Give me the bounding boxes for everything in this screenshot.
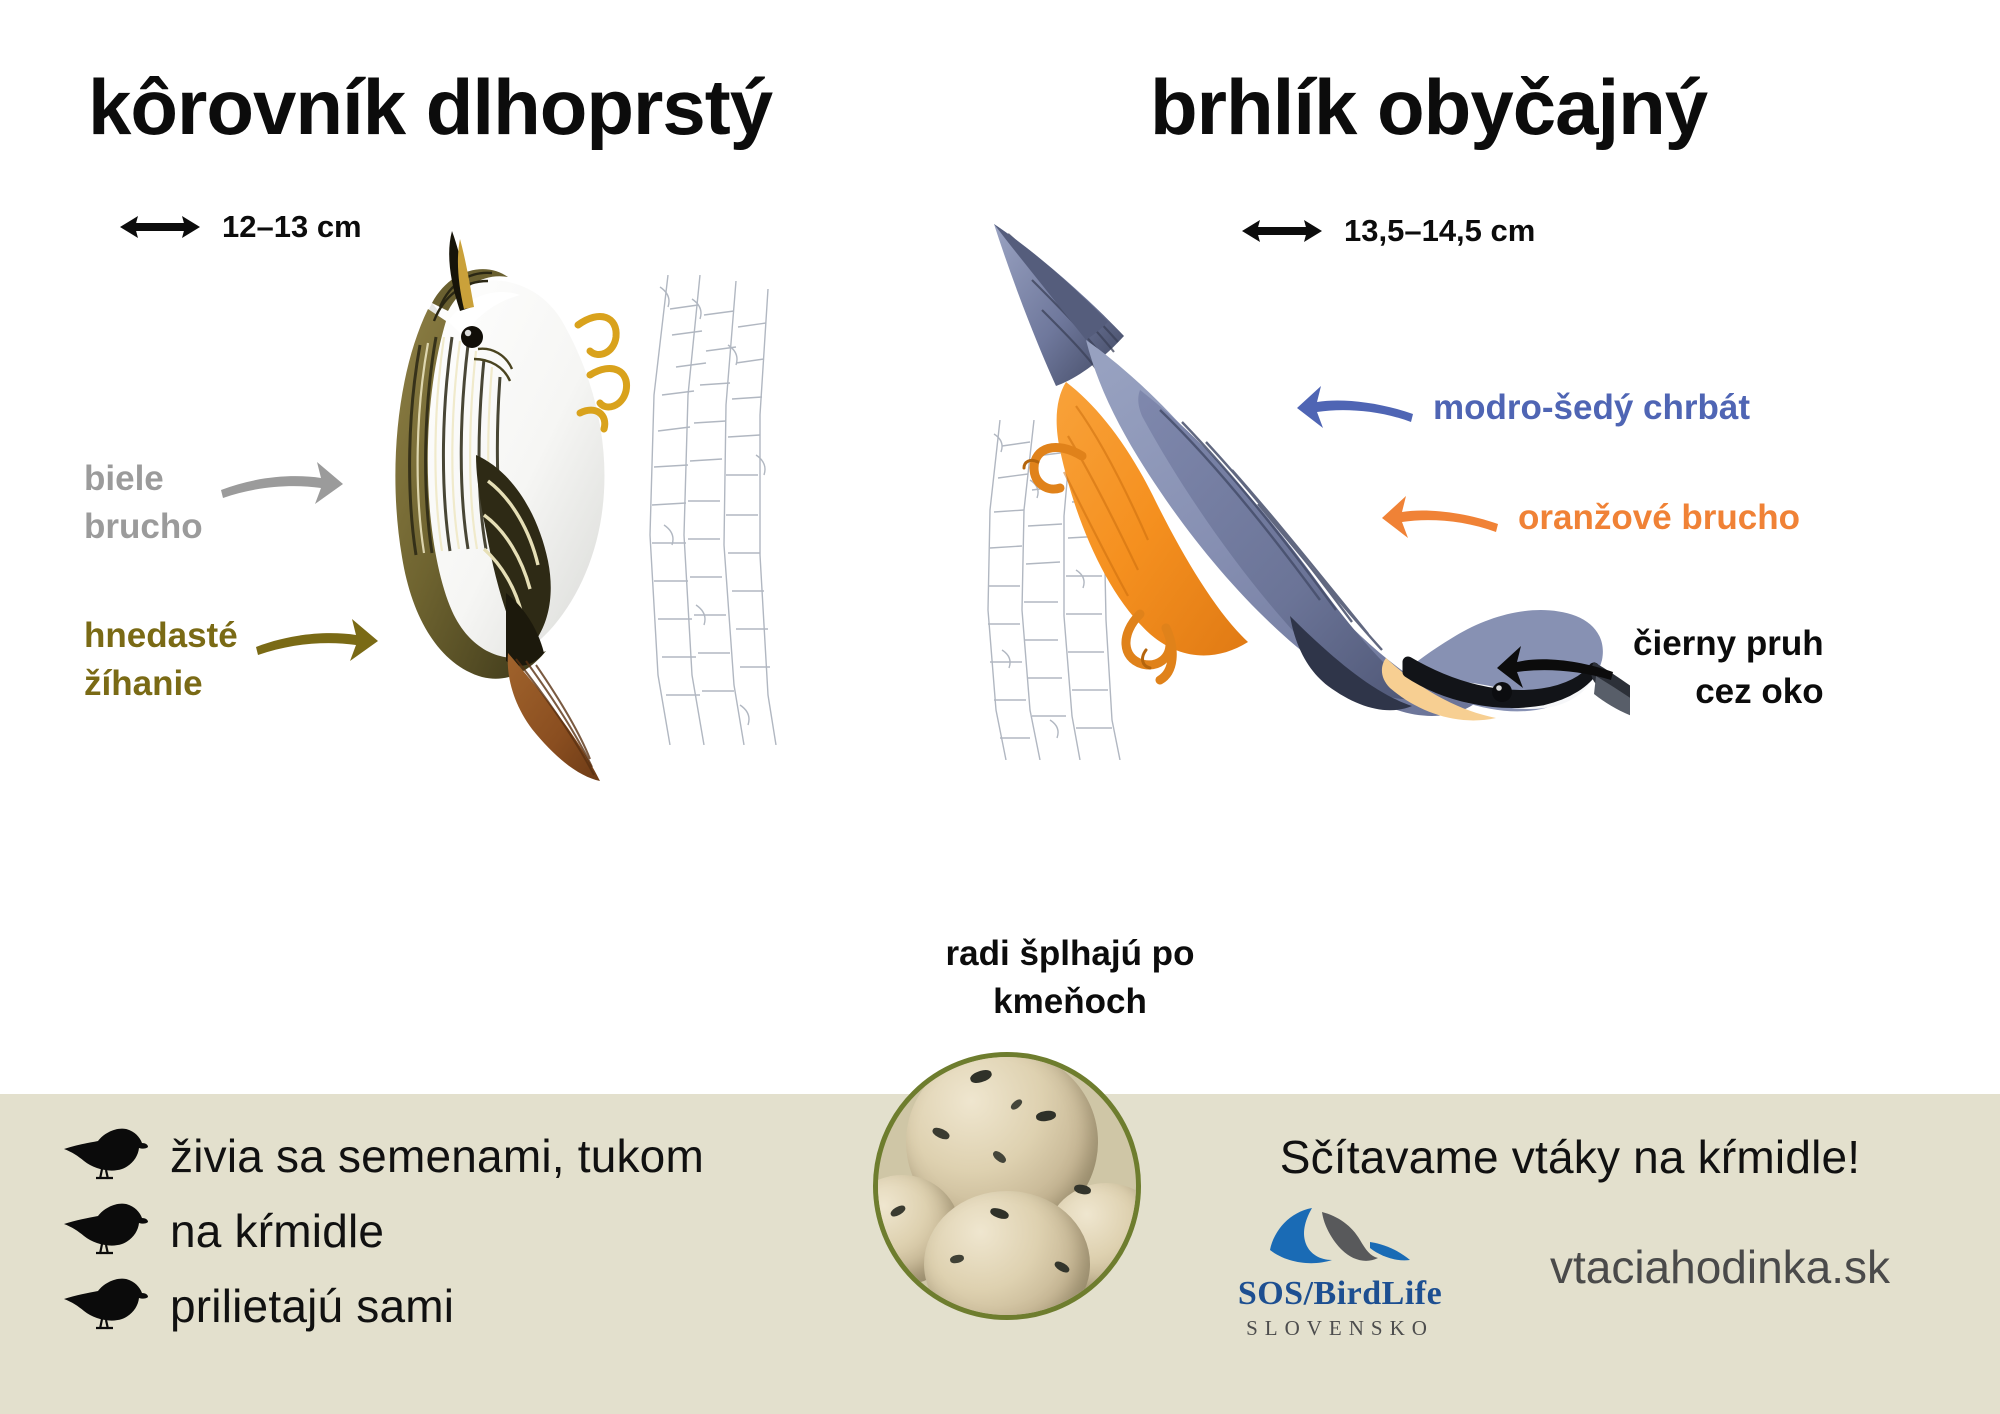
annotation-brown-streaking: hnedasté žíhanie: [84, 612, 380, 709]
list-item-label: živia sa semenami, tukom: [170, 1129, 704, 1183]
arrow-left-curved-icon: [1295, 378, 1417, 439]
annotation-orange-belly-text: oranžové brucho: [1518, 494, 1800, 542]
annotation-black-eyestripe-line2: cez oko: [1633, 668, 1824, 716]
list-item: živia sa semenami, tukom: [62, 1125, 704, 1186]
arrow-left-curved-icon: [1380, 488, 1502, 549]
caption-line1: radi šplhajú po: [910, 930, 1230, 978]
list-item: prilietajú sami: [62, 1275, 704, 1336]
species-title-treecreeper: kôrovník dlhoprstý: [88, 62, 772, 153]
arrow-left-curved-icon: [1495, 638, 1617, 699]
logo-wordmark: SOS/BirdLife: [1238, 1275, 1442, 1313]
list-item: na kŕmidle: [62, 1200, 704, 1261]
treecreeper-illustration: [300, 225, 820, 805]
promo-url[interactable]: vtaciahodinka.sk: [1490, 1206, 1950, 1294]
annotation-black-eyestripe: čierny pruh cez oko: [1495, 620, 1824, 717]
annotation-white-belly-line2: brucho: [84, 503, 203, 551]
list-item-label: na kŕmidle: [170, 1204, 384, 1258]
annotation-orange-belly: oranžové brucho: [1380, 488, 1800, 549]
annotation-brown-streaking-line1: hnedasté: [84, 612, 238, 660]
birdlife-bird-logo-icon: [1260, 1206, 1420, 1273]
annotation-blue-grey-back-text: modro-šedý chrbát: [1433, 384, 1750, 432]
species-title-nuthatch: brhlík obyčajný: [1150, 62, 1707, 153]
birdlife-logo: SOS/BirdLife SLOVENSKO: [1190, 1206, 1490, 1341]
logo-subword: SLOVENSKO: [1246, 1316, 1434, 1341]
bird-silhouette-icon: [62, 1125, 150, 1186]
caption-line2: kmeňoch: [910, 978, 1230, 1026]
promo-headline: Sčítavame vtáky na kŕmidle!: [1190, 1130, 1950, 1184]
annotation-brown-streaking-line2: žíhanie: [84, 660, 238, 708]
infographic-poster: kôrovník dlhoprstý brhlík obyčajný 12–13…: [0, 0, 2000, 1414]
annotation-black-eyestripe-text: čierny pruh cez oko: [1633, 620, 1824, 717]
arrow-right-curved-icon: [252, 611, 380, 674]
annotation-blue-grey-back: modro-šedý chrbát: [1295, 378, 1750, 439]
arrow-right-curved-icon: [217, 454, 345, 517]
annotation-brown-streaking-text: hnedasté žíhanie: [84, 612, 238, 709]
promo-row: SOS/BirdLife SLOVENSKO vtaciahodinka.sk: [1190, 1206, 1950, 1341]
fat-ball-photo: [873, 1052, 1141, 1320]
annotation-white-belly-line1: biele: [84, 455, 203, 503]
feeding-facts-list: živia sa semenami, tukom na kŕmidle: [62, 1125, 704, 1336]
double-arrow-horizontal-icon: [118, 208, 202, 246]
list-item-label: prilietajú sami: [170, 1279, 454, 1333]
bird-silhouette-icon: [62, 1275, 150, 1336]
annotation-white-belly-text: biele brucho: [84, 455, 203, 552]
promo-block: Sčítavame vtáky na kŕmidle! SOS/BirdLife…: [1190, 1130, 1950, 1341]
annotation-white-belly: biele brucho: [84, 455, 345, 552]
caption-climbing-trunks: radi šplhajú po kmeňoch: [910, 930, 1230, 1027]
annotation-black-eyestripe-line1: čierny pruh: [1633, 620, 1824, 668]
bird-silhouette-icon: [62, 1200, 150, 1261]
